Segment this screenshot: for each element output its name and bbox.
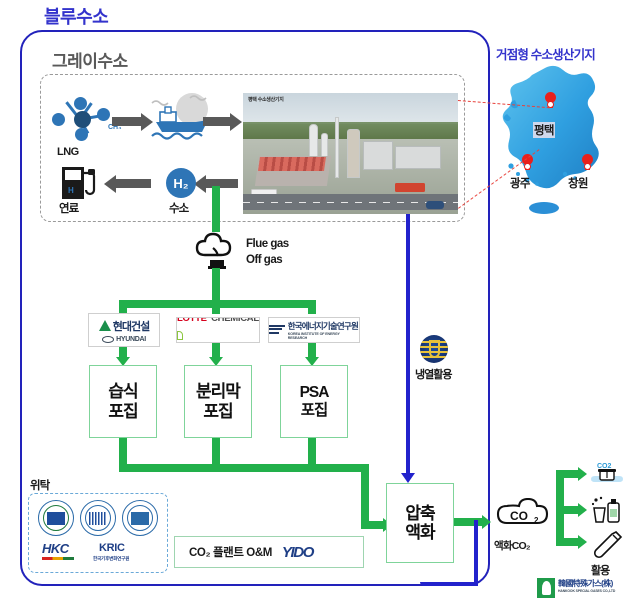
pipe-to-compressor bbox=[361, 521, 385, 529]
svg-text:H: H bbox=[68, 186, 74, 195]
lotte-mark-icon bbox=[177, 331, 183, 340]
kier-logo-kr: 한국에너지기술연구원 bbox=[288, 320, 359, 332]
arrowhead-utilization-3 bbox=[578, 535, 587, 549]
hkc-bars-icon bbox=[42, 557, 74, 560]
compression-line1: 압축 bbox=[405, 504, 434, 523]
capture-box-membrane-line1: 분리막 bbox=[196, 382, 240, 401]
capture-box-wet-line2: 포집 bbox=[108, 402, 137, 421]
utilization-label: 활용 bbox=[591, 562, 609, 578]
arrow-plant-to-hydrogen bbox=[205, 179, 238, 188]
svg-text:CO2: CO2 bbox=[597, 463, 612, 470]
university-seal-icon bbox=[80, 500, 116, 536]
lotte-logo-gray: CHEMICAL bbox=[211, 317, 259, 324]
pipe-flue-down bbox=[212, 268, 220, 304]
photo-caption: 평택 수소생산기지 bbox=[248, 96, 284, 103]
svg-text:CO: CO bbox=[510, 509, 528, 523]
consignment-label: 위탁 bbox=[30, 477, 49, 493]
yido-logo-icon: YIDO bbox=[282, 544, 313, 561]
hydrogen-fuel-pump-icon: H bbox=[60, 165, 100, 201]
capture-box-psa-line1: PSA bbox=[300, 384, 329, 401]
svg-text:2: 2 bbox=[534, 516, 539, 525]
beverage-bottle-icon bbox=[592, 530, 624, 560]
kier-logo-en: KOREA INSTITUTE OF ENERGY RESEARCH bbox=[288, 332, 359, 340]
pipe-collector-horizontal bbox=[119, 464, 369, 472]
flue-gas-label-line2: Off gas bbox=[246, 254, 282, 266]
methane-molecule-icon bbox=[50, 96, 116, 142]
capture-box-membrane[interactable]: 분리막 포집 bbox=[184, 365, 252, 438]
kric-logo-text: KRIC bbox=[99, 542, 125, 554]
cold-energy-label: 냉열활용 bbox=[415, 366, 451, 382]
supplier-name-en: HANKOOK SPECIAL GASES CO.,LTD bbox=[558, 589, 615, 593]
arrow-ship-to-plant bbox=[203, 117, 231, 126]
kric-logo-kr: 한국기후변화연구원 bbox=[93, 556, 129, 562]
lotte-logo-red: LOTTE bbox=[177, 317, 207, 324]
pipe-utilization-branch-2 bbox=[556, 506, 580, 514]
co2-plant-om-box: CO₂ 플랜트 O&M YIDO bbox=[174, 536, 364, 568]
pipe-drop-lotte bbox=[212, 300, 220, 314]
kier-logo-icon: 한국에너지기술연구원 KOREA INSTITUTE OF ENERGY RES… bbox=[268, 317, 360, 343]
hyundai-logo-kr: 현대건설 bbox=[113, 318, 149, 334]
pipe-plant-to-flue bbox=[212, 186, 220, 232]
smokestack-flue-gas-icon bbox=[192, 232, 240, 272]
fuel-label: 연료 bbox=[59, 200, 78, 216]
pipe-return-blue-horizontal bbox=[420, 582, 478, 586]
liquid-co2-label: 액화CO₂ bbox=[494, 538, 530, 553]
hydrogen-badge: H₂ bbox=[166, 168, 196, 198]
arrow-hydrogen-to-fuel bbox=[115, 179, 151, 188]
capture-box-wet-line1: 습식 bbox=[108, 382, 137, 401]
co2-plant-om-text: CO₂ 플랜트 O&M bbox=[189, 544, 272, 560]
map-title: 거점형 수소생산기지 bbox=[496, 44, 595, 63]
location-pin-icon-changwon[interactable] bbox=[582, 154, 593, 171]
dankook-university-seal-icon bbox=[122, 500, 158, 536]
supplier-name-kr: 韓國特殊가스(株) bbox=[558, 578, 613, 589]
hkc-logo-text: HKC bbox=[42, 541, 69, 556]
diagram-canvas: 블루수소 그레이수소 거점형 수소생산기지 CH₄ LNG bbox=[0, 0, 634, 613]
lng-label: LNG bbox=[57, 146, 79, 158]
page-title-blue-hydrogen: 블루수소 bbox=[44, 3, 108, 29]
pipe-utilization-branch-1 bbox=[556, 470, 580, 478]
kyungpook-national-university-seal-icon bbox=[38, 500, 74, 536]
hyundai-triangle-icon bbox=[99, 320, 111, 331]
flue-gas-label-line1: Flue gas bbox=[246, 238, 289, 250]
hydrogen-badge-label: H₂ bbox=[173, 176, 188, 191]
arrow-lng-to-ship bbox=[112, 117, 142, 126]
map-label-pyeongtaek: 평택 bbox=[533, 122, 555, 138]
lotte-chemical-logo-icon: LOTTE CHEMICAL 롯데케미칼 bbox=[176, 317, 260, 343]
map-label-gwangju: 광주 bbox=[510, 175, 530, 191]
pyeongtaek-hydrogen-plant-photo: 평택 수소생산기지 bbox=[243, 93, 458, 214]
arrowhead-utilization-2 bbox=[578, 503, 587, 517]
carbonated-drink-icon bbox=[590, 496, 624, 524]
map-label-changwon: 창원 bbox=[568, 175, 588, 191]
co2-cloud-icon: CO 2 bbox=[494, 498, 550, 532]
pipe-drop-hyundai bbox=[119, 300, 127, 314]
pipe-utilization-branch-3 bbox=[556, 538, 580, 546]
south-korea-map-icon bbox=[487, 62, 634, 222]
compression-liquefaction-box[interactable]: 압축 액화 bbox=[386, 483, 454, 563]
capture-box-membrane-line2: 포집 bbox=[203, 402, 232, 421]
arrowhead-utilization-1 bbox=[578, 467, 587, 481]
hydrogen-label: 수소 bbox=[169, 200, 188, 216]
pipe-return-blue-vertical bbox=[474, 520, 478, 586]
kogas-logo-icon bbox=[420, 335, 448, 363]
compression-line2: 액화 bbox=[405, 523, 434, 542]
hyundai-oval-icon bbox=[102, 336, 114, 343]
pipe-compressor-to-co2 bbox=[454, 518, 484, 526]
pipe-cold-energy-blue bbox=[406, 214, 410, 479]
capture-box-psa-line2: 포집 bbox=[301, 402, 328, 419]
capture-box-wet[interactable]: 습식 포집 bbox=[89, 365, 157, 438]
capture-box-psa[interactable]: PSA 포집 bbox=[280, 365, 348, 438]
pipe-drop-kier bbox=[308, 300, 316, 314]
arrowhead-co2-cloud bbox=[482, 515, 491, 529]
hyundai-ec-logo-icon: 현대건설 HYUNDAI bbox=[88, 313, 160, 347]
dry-ice-co2-icon: CO2 bbox=[590, 460, 624, 488]
arrowhead-cold-energy bbox=[401, 473, 415, 483]
pipe-collector-riser bbox=[361, 464, 369, 529]
kier-bars-icon bbox=[269, 325, 285, 335]
hankook-special-gases-logo-icon bbox=[537, 578, 555, 598]
hyundai-logo-en: HYUNDAI bbox=[116, 336, 146, 343]
section-title-grey-hydrogen: 그레이수소 bbox=[52, 47, 128, 72]
